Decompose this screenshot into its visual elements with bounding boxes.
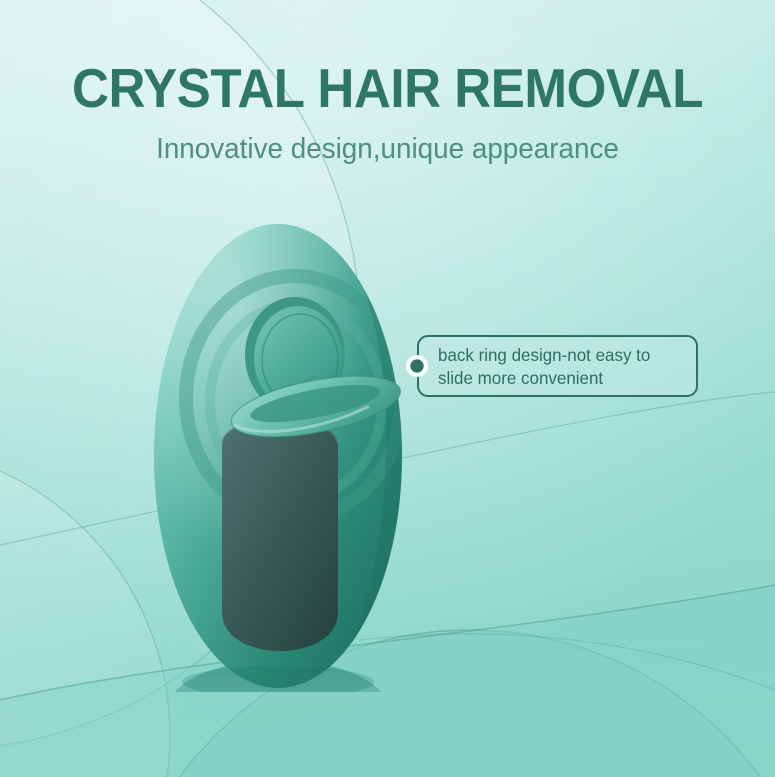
- page-title: CRYSTAL HAIR REMOVAL: [27, 58, 748, 118]
- callout-connector-dot: [404, 353, 430, 379]
- page-title-block: CRYSTAL HAIR REMOVAL: [0, 58, 775, 118]
- feature-callout-text: back ring design-not easy to slide more …: [438, 344, 681, 390]
- product-image: [128, 212, 428, 692]
- product-banner: CRYSTAL HAIR REMOVAL Innovative design,u…: [0, 0, 775, 777]
- product-device-illustration: [128, 212, 428, 692]
- feature-callout: back ring design-not easy to slide more …: [417, 335, 698, 397]
- device-ground-shadow: [182, 666, 374, 692]
- crystal-panel: [222, 419, 338, 652]
- page-subtitle: Innovative design,unique appearance: [16, 131, 760, 167]
